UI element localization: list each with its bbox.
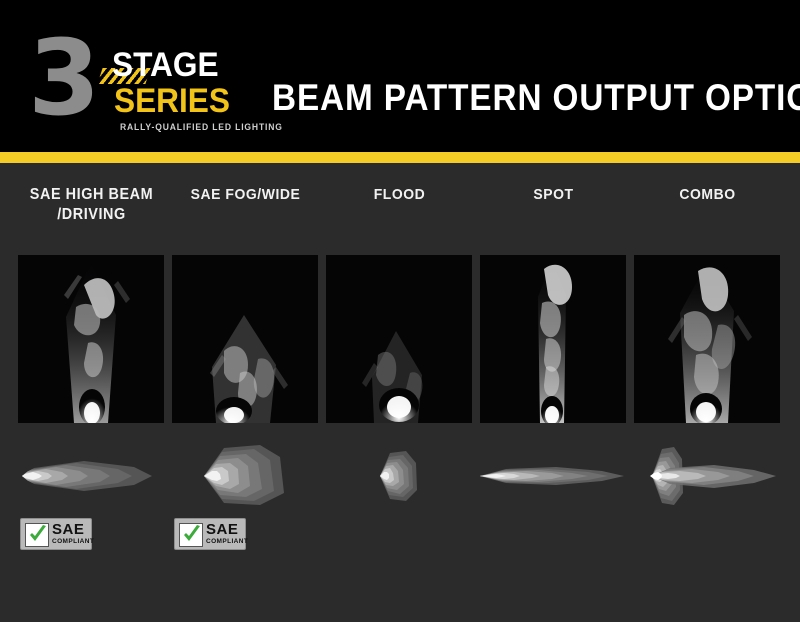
- column-header: SAE FOG/WIDE: [173, 185, 317, 205]
- beam-photo-spot: [480, 255, 626, 423]
- sae-compliant-badge: SAE COMPLIANT: [20, 518, 92, 550]
- beam-diagram-sae-fog-wide: [168, 441, 323, 511]
- column-header-line2: /DRIVING: [57, 206, 126, 223]
- logo-tagline: RALLY-QUALIFIED LED LIGHTING: [120, 122, 283, 132]
- column-header-line1: SPOT: [533, 186, 573, 203]
- logo-word-stage: STAGE: [112, 48, 219, 82]
- column-header: SAE HIGH BEAM /DRIVING: [19, 185, 163, 225]
- beam-photo-sae-fog-wide: [172, 255, 318, 423]
- beam-photo-sae-high-beam-driving: [18, 255, 164, 423]
- pattern-grid: SAE HIGH BEAM /DRIVING: [0, 163, 800, 622]
- pattern-column-sae-high-beam-driving: SAE HIGH BEAM /DRIVING: [14, 163, 169, 622]
- checkmark-box: [25, 523, 49, 547]
- brand-logo: 3 STAGE SERIES RALLY-QUALIFIED LED LIGHT…: [28, 24, 258, 134]
- pattern-column-combo: COMBO: [630, 163, 785, 622]
- beam-diagram-flood: [322, 441, 477, 511]
- beam-pattern-infographic: 3 STAGE SERIES RALLY-QUALIFIED LED LIGHT…: [0, 0, 800, 622]
- badge-title: SAE: [52, 522, 84, 538]
- column-header: COMBO: [635, 185, 779, 205]
- badge-subtitle: COMPLIANT: [206, 538, 248, 546]
- pattern-column-sae-fog-wide: SAE FOG/WIDE: [168, 163, 323, 622]
- beam-diagram-sae-high-beam-driving: [14, 441, 169, 511]
- logo-word-series: SERIES: [114, 84, 230, 118]
- badge-subtitle: COMPLIANT: [52, 538, 94, 546]
- pattern-column-flood: FLOOD: [322, 163, 477, 622]
- sae-compliant-badge: SAE COMPLIANT: [174, 518, 246, 550]
- column-header: SPOT: [481, 185, 625, 205]
- column-header-line1: FLOOD: [374, 186, 426, 203]
- page-title: BEAM PATTERN OUTPUT OPTIONS: [272, 78, 800, 118]
- beam-diagram-combo: [630, 441, 785, 511]
- beam-diagram-spot: [476, 441, 631, 511]
- column-header-line1: SAE FOG/WIDE: [191, 186, 301, 203]
- pattern-column-spot: SPOT: [476, 163, 631, 622]
- header-bar: 3 STAGE SERIES RALLY-QUALIFIED LED LIGHT…: [0, 0, 800, 152]
- column-header-line1: COMBO: [679, 186, 735, 203]
- check-icon: [181, 524, 203, 546]
- column-header-line1: SAE HIGH BEAM: [30, 186, 153, 203]
- header-divider: [0, 152, 800, 163]
- beam-photo-flood: [326, 255, 472, 423]
- logo-numeral: 3: [28, 26, 96, 130]
- checkmark-box: [179, 523, 203, 547]
- check-icon: [27, 524, 49, 546]
- beam-photo-combo: [634, 255, 780, 423]
- column-header: FLOOD: [327, 185, 471, 205]
- badge-title: SAE: [206, 522, 238, 538]
